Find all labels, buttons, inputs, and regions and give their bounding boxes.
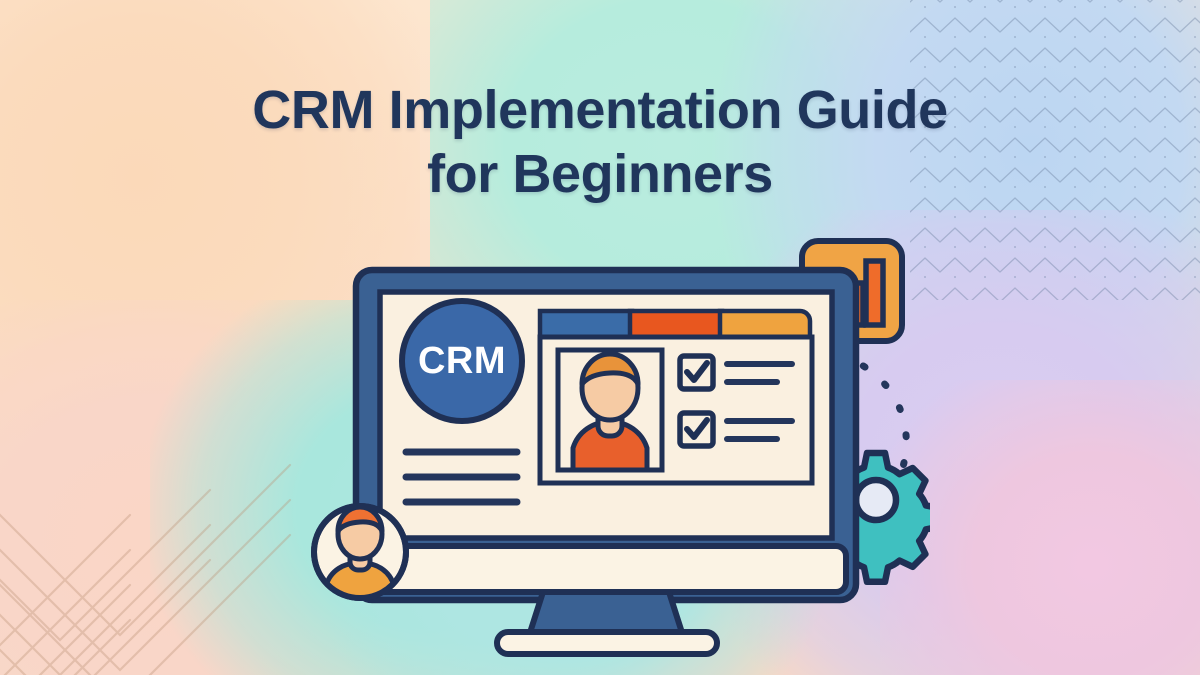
crm-badge-label: CRM xyxy=(418,340,506,382)
crm-monitor-illustration: CRM xyxy=(290,228,930,658)
user-avatar-badge xyxy=(314,506,406,600)
card-tab-2[interactable] xyxy=(630,311,722,337)
chart-bar-3 xyxy=(866,261,883,325)
card-tab-1[interactable] xyxy=(540,311,632,337)
page-title-line-1: CRM Implementation Guide xyxy=(252,80,947,140)
monitor-chin xyxy=(366,546,846,592)
page-title-line-2: for Beginners xyxy=(0,142,1200,206)
card-tab-3[interactable] xyxy=(720,311,810,337)
page-title: CRM Implementation Guide for Beginners xyxy=(0,78,1200,207)
card-avatar xyxy=(558,350,662,470)
poster-canvas: CRM Implementation Guide for Beginners xyxy=(0,0,1200,675)
chevron-texture-bottom-left xyxy=(0,395,310,675)
crm-circle-badge: CRM xyxy=(402,301,522,421)
crm-record-card xyxy=(538,309,821,483)
monitor-stand-base xyxy=(497,632,717,654)
